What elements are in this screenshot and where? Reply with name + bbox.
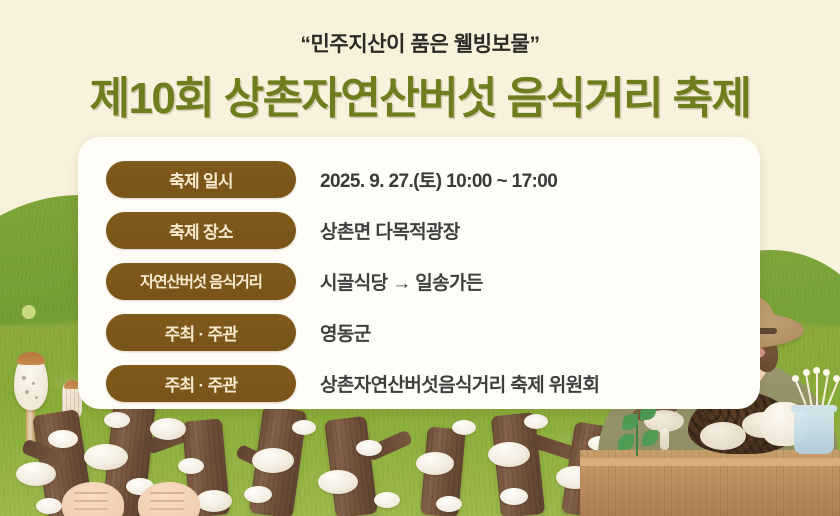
info-label-pill: 주최 · 주관 — [106, 314, 296, 351]
poster-title: 제10회 상촌자연산버섯 음식거리 축제 — [0, 62, 840, 126]
info-label-pill: 주최 · 주관 — [106, 365, 296, 402]
info-value: 2025. 9. 27.(토) 10:00 ~ 17:00 — [320, 166, 557, 193]
info-value: 상촌자연산버섯음식거리 축제 위원회 — [320, 370, 599, 397]
info-value: 상촌면 다목적광장 — [320, 217, 460, 244]
poster-subtitle: “민주지산이 품은 웰빙보물” — [0, 28, 840, 58]
info-row: 주최 · 주관 영동군 — [106, 308, 760, 356]
table-edge — [580, 458, 840, 466]
info-value: 시골식당 → 일송가든 — [320, 268, 483, 295]
info-row: 축제 일시 2025. 9. 27.(토) 10:00 ~ 17:00 — [106, 155, 760, 203]
info-row: 자연산버섯 음식거리 시골식당 → 일송가든 — [106, 257, 760, 305]
info-label-pill: 자연산버섯 음식거리 — [106, 263, 296, 300]
info-row: 주최 · 주관 상촌자연산버섯음식거리 축제 위원회 — [106, 359, 760, 407]
info-label-pill: 축제 장소 — [106, 212, 296, 249]
info-label-pill: 축제 일시 — [106, 161, 296, 198]
festival-info-card: 축제 일시 2025. 9. 27.(토) 10:00 ~ 17:00 축제 장… — [78, 137, 760, 409]
info-value: 영동군 — [320, 319, 371, 346]
info-row: 축제 장소 상촌면 다목적광장 — [106, 206, 760, 254]
festival-poster: “민주지산이 품은 웰빙보물” 제10회 상촌자연산버섯 음식거리 축제 축제 … — [0, 0, 840, 516]
